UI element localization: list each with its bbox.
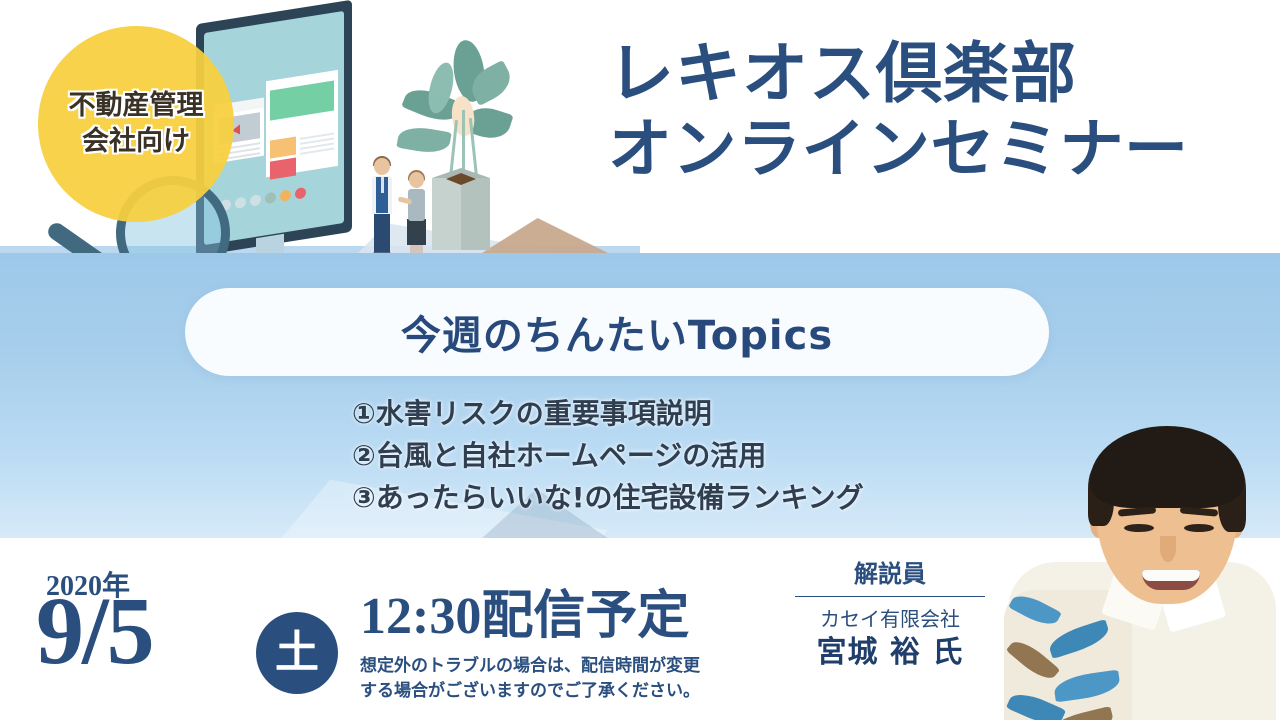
presenter-hair: [1090, 426, 1244, 508]
speaker-role: 解説員: [760, 558, 1020, 590]
topic-item-2: ②台風と自社ホームページの活用: [352, 435, 1052, 477]
schedule-note-line-2: する場合がございますのでご了承ください。: [360, 679, 760, 704]
plant-stem: [462, 110, 465, 178]
date-value: 9/5: [36, 576, 153, 686]
seminar-title: レキオス倶楽部 オンラインセミナー: [608, 36, 1268, 188]
presenter-nose: [1160, 536, 1176, 562]
presenter-photo: [1000, 412, 1280, 720]
speaker-block: 解説員 カセイ有限会社 宮城 裕 氏: [760, 558, 1020, 673]
speaker-name: 宮城 裕 氏: [760, 633, 1020, 673]
topics-heading-pill: 今週のちんたいTopics: [185, 288, 1049, 376]
schedule-note-line-1: 想定外のトラブルの場合は、配信時間が変更: [360, 654, 760, 679]
presenter-eye-left: [1124, 524, 1154, 532]
title-line-2: オンラインセミナー: [608, 112, 1268, 188]
date-cluster: 2020年 9/5 土: [28, 554, 358, 704]
presenter-eye-right: [1184, 524, 1214, 532]
screen-dot-row: [220, 185, 320, 213]
screen-red-block: [270, 158, 296, 180]
speaker-company: カセイ有限会社: [760, 605, 1020, 633]
plant-leaf: [396, 124, 451, 157]
broadcast-time-block: 12:30配信予定 想定外のトラブルの場合は、配信時間が変更 する場合がございま…: [360, 586, 760, 704]
webinar-banner: 今週のちんたいTopics ①水害リスクの重要事項説明 ②台風と自社ホームページ…: [0, 0, 1280, 720]
topic-item-3: ③あったらいいな!の住宅設備ランキング: [352, 477, 1052, 519]
topics-list: ①水害リスクの重要事項説明 ②台風と自社ホームページの活用 ③あったらいいな!の…: [352, 393, 1052, 519]
illustration-person-man: [368, 158, 396, 262]
topics-heading-text: 今週のちんたいTopics: [401, 303, 833, 361]
target-audience-badge-text: 不動産管理 会社向け: [38, 26, 234, 222]
badge-line-1: 不動産管理: [69, 88, 204, 124]
plant-stem: [449, 120, 458, 178]
title-line-1: レキオス倶楽部: [608, 36, 1268, 112]
speaker-divider: [795, 596, 985, 597]
topic-item-1: ①水害リスクの重要事項説明: [352, 393, 1052, 435]
presenter-mouth: [1142, 570, 1200, 590]
weekday-label: 土: [275, 631, 319, 675]
badge-line-2: 会社向け: [82, 124, 190, 160]
planter-side: [461, 178, 490, 250]
presenter-teeth: [1142, 570, 1200, 581]
broadcast-time: 12:30配信予定: [360, 586, 760, 648]
weekday-badge: 土: [256, 612, 338, 694]
